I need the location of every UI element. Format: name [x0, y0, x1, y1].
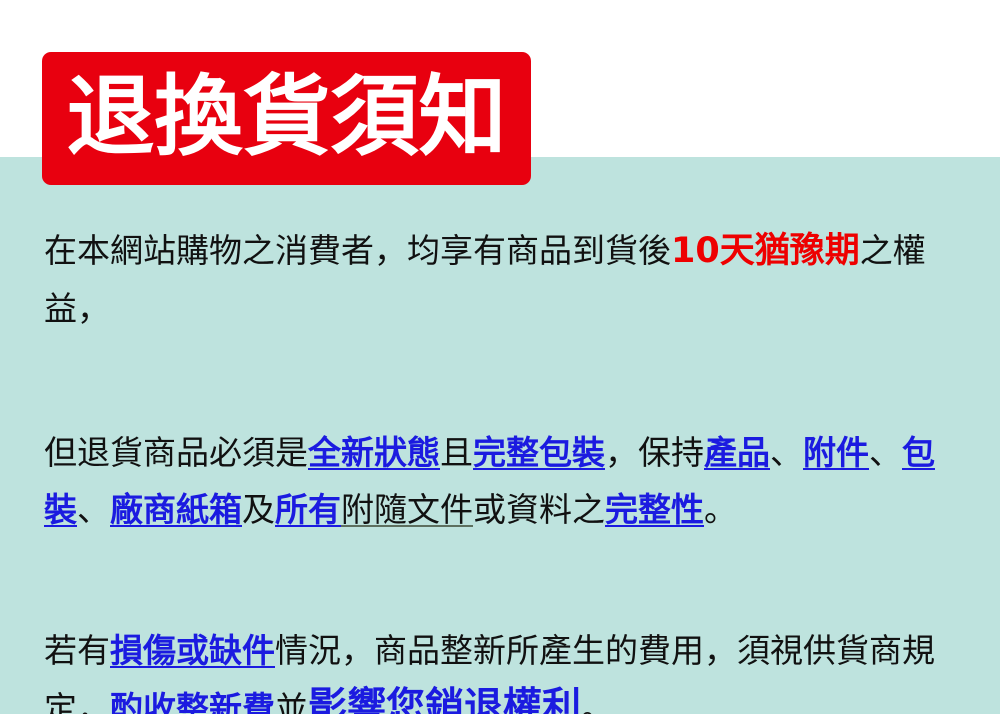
text-run: 及 — [242, 490, 275, 529]
highlight-run-red: 10天猶豫期 — [671, 231, 860, 271]
highlight-run-blue: 附件 — [803, 433, 869, 472]
highlight-run-black-underline: 並 — [275, 689, 308, 714]
policy-paragraph-1: 在本網站購物之消費者，均享有商品到貨後10天猶豫期之權益， — [44, 222, 964, 337]
text-run: ，保持 — [605, 433, 704, 472]
policy-paragraph-3: 若有損傷或缺件情況，商品整新所產生的費用，須視供貨商規定，酌收整新費並影響您銷退… — [44, 622, 964, 714]
return-policy-page: 退換貨須知 在本網站購物之消費者，均享有商品到貨後10天猶豫期之權益， 但退貨商… — [0, 0, 1000, 714]
policy-body: 在本網站購物之消費者，均享有商品到貨後10天猶豫期之權益， 但退貨商品必須是全新… — [44, 222, 964, 714]
text-run: 但退貨商品必須是 — [44, 433, 308, 472]
text-run: 且 — [440, 433, 473, 472]
highlight-run-blue: 完整性 — [605, 490, 704, 529]
highlight-run-blue: 所有 — [275, 490, 341, 529]
text-run: 。 — [704, 490, 737, 529]
highlight-run-blue: 完整包裝 — [473, 433, 605, 472]
highlight-run-blue: 廠商紙箱 — [110, 490, 242, 529]
text-run: 、 — [77, 490, 110, 529]
policy-paragraph-2: 但退貨商品必須是全新狀態且完整包裝，保持產品、附件、包裝、廠商紙箱及所有附隨文件… — [44, 424, 964, 538]
text-run: 或資料之 — [473, 490, 605, 529]
text-run: 在本網站購物之消費者，均享有商品到貨後 — [44, 231, 671, 270]
page-title: 退換貨須知 — [66, 73, 506, 161]
highlight-run-blue: 產品 — [704, 433, 770, 472]
highlight-run-blue: 酌收整新費 — [110, 689, 275, 714]
highlight-run-blue: 全新狀態 — [308, 433, 440, 472]
highlight-run-dark-underline: 附隨文件 — [341, 490, 473, 529]
highlight-run-blue: 損傷或缺件 — [110, 631, 275, 670]
text-run: 若有 — [44, 631, 110, 670]
text-run: 、 — [770, 433, 803, 472]
text-run: 。 — [581, 689, 614, 714]
highlight-run-blue-emphasis: 影響您銷退權利 — [308, 685, 581, 714]
text-run: 、 — [869, 433, 902, 472]
title-banner: 退換貨須知 — [42, 52, 531, 185]
